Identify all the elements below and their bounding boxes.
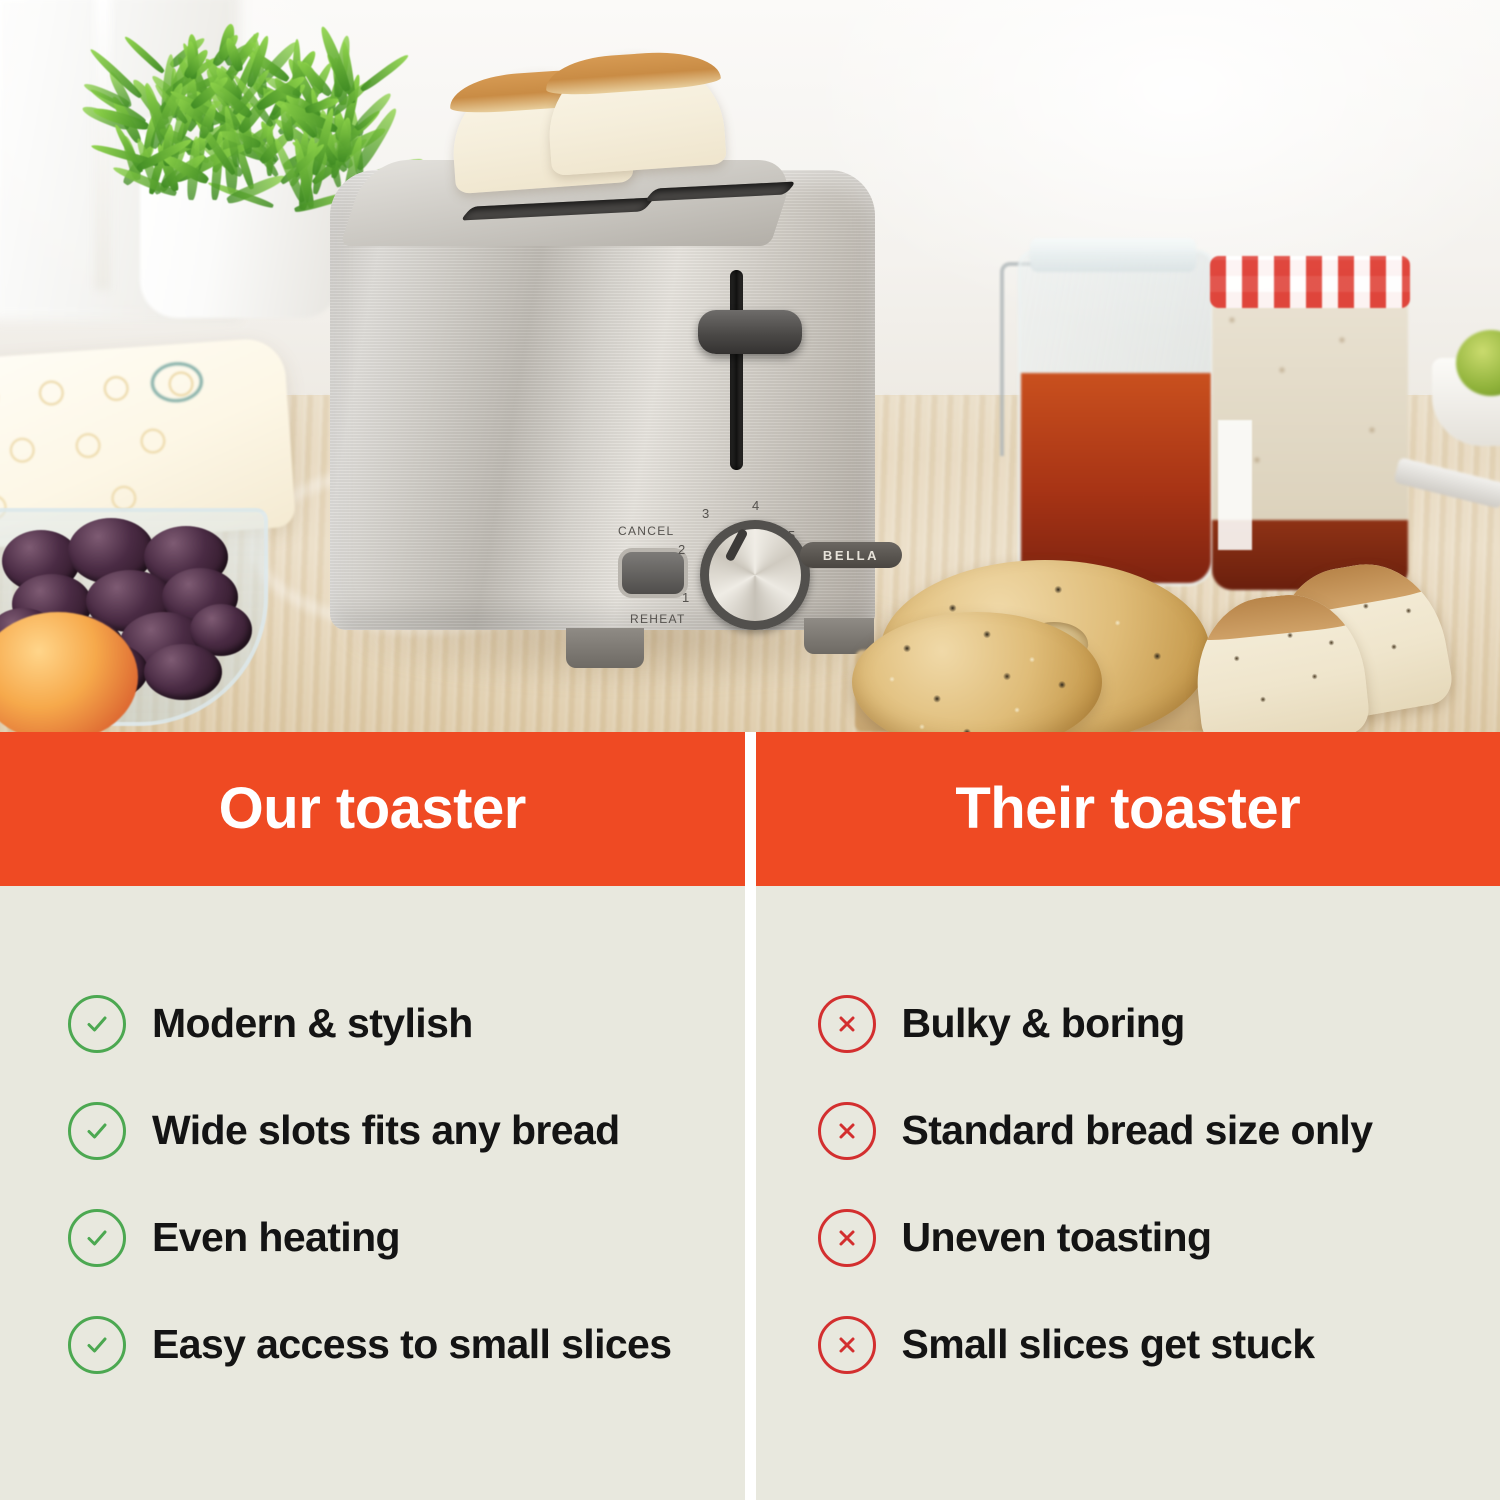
- check-circle-icon: [68, 1102, 126, 1160]
- list-item-label: Standard bread size only: [902, 1109, 1373, 1152]
- list-item: Bulky & boring: [756, 970, 1500, 1077]
- list-item-label: Bulky & boring: [902, 1002, 1185, 1045]
- cons-column: Bulky & boring Standard bread size only …: [756, 886, 1500, 1500]
- toaster-slot-left: [460, 197, 655, 220]
- dial-number-1: 1: [682, 590, 689, 605]
- list-item: Wide slots fits any bread: [0, 1077, 745, 1184]
- list-item: Even heating: [0, 1184, 745, 1291]
- cross-circle-icon: [818, 1102, 876, 1160]
- cross-circle-icon: [818, 1209, 876, 1267]
- list-item: Easy access to small slices: [0, 1291, 745, 1398]
- check-circle-icon: [68, 1316, 126, 1374]
- check-circle-icon: [68, 1209, 126, 1267]
- list-item: Standard bread size only: [756, 1077, 1500, 1184]
- cross-circle-icon: [818, 995, 876, 1053]
- list-item-label: Wide slots fits any bread: [152, 1109, 620, 1152]
- dial-number-4: 4: [752, 498, 759, 513]
- plant-leaf: [123, 35, 166, 76]
- list-item: Uneven toasting: [756, 1184, 1500, 1291]
- check-circle-icon: [68, 995, 126, 1053]
- list-item-label: Small slices get stuck: [902, 1323, 1315, 1366]
- list-item-label: Easy access to small slices: [152, 1323, 671, 1366]
- header-their-toaster: Their toaster: [756, 732, 1500, 886]
- toaster-slot-right: [644, 181, 796, 201]
- toaster-lever-track: [730, 270, 743, 470]
- toaster-cancel-label: CANCEL: [618, 524, 674, 538]
- bread-slice-seeds: [1189, 588, 1371, 732]
- toaster-lever-knob: [698, 310, 802, 354]
- toaster-foot-right: [804, 618, 874, 654]
- dial-number-2: 2: [678, 542, 685, 557]
- header-our-toaster: Our toaster: [0, 732, 745, 886]
- comparison-header-band: Our toaster Their toaster: [0, 732, 1500, 886]
- cross-circle-icon: [818, 1316, 876, 1374]
- jam-jar-clasp: [1018, 250, 1214, 586]
- pros-column: Modern & stylish Wide slots fits any bre…: [0, 886, 745, 1500]
- dial-number-3: 3: [702, 506, 709, 521]
- dial-number-5: 5: [788, 528, 795, 543]
- gingham-jar-lid: [1210, 256, 1410, 308]
- comparison-lists: Modern & stylish Wide slots fits any bre…: [0, 886, 1500, 1500]
- plant-foliage-icon: [118, 0, 368, 160]
- bread-slice-right: [544, 48, 727, 176]
- toaster-foot-left: [566, 628, 644, 668]
- jam-contents: [1021, 373, 1211, 583]
- blackberry: [144, 644, 222, 700]
- header-divider: [745, 732, 756, 886]
- product-photo: CANCEL REHEAT 1 2 3 4 5 BELLA: [0, 0, 1500, 732]
- jam-jar-glass-lid: [1030, 238, 1196, 272]
- list-item-label: Uneven toasting: [902, 1216, 1212, 1259]
- seeded-bread-slice-front: [1189, 588, 1371, 732]
- toaster-brand-label: BELLA: [823, 548, 879, 563]
- toaster-reheat-label: REHEAT: [630, 612, 686, 626]
- list-item-label: Even heating: [152, 1216, 400, 1259]
- header-title-our: Our toaster: [219, 780, 526, 838]
- toaster-brand-plate: BELLA: [800, 542, 902, 568]
- lists-divider: [745, 886, 756, 1500]
- list-item: Small slices get stuck: [756, 1291, 1500, 1398]
- list-item-label: Modern & stylish: [152, 1002, 473, 1045]
- header-title-their: Their toaster: [955, 780, 1300, 838]
- product-comparison-infographic: CANCEL REHEAT 1 2 3 4 5 BELLA: [0, 0, 1500, 1500]
- list-item: Modern & stylish: [0, 970, 745, 1077]
- toaster-appliance: CANCEL REHEAT 1 2 3 4 5 BELLA: [330, 150, 875, 660]
- jar-label: [1218, 420, 1252, 550]
